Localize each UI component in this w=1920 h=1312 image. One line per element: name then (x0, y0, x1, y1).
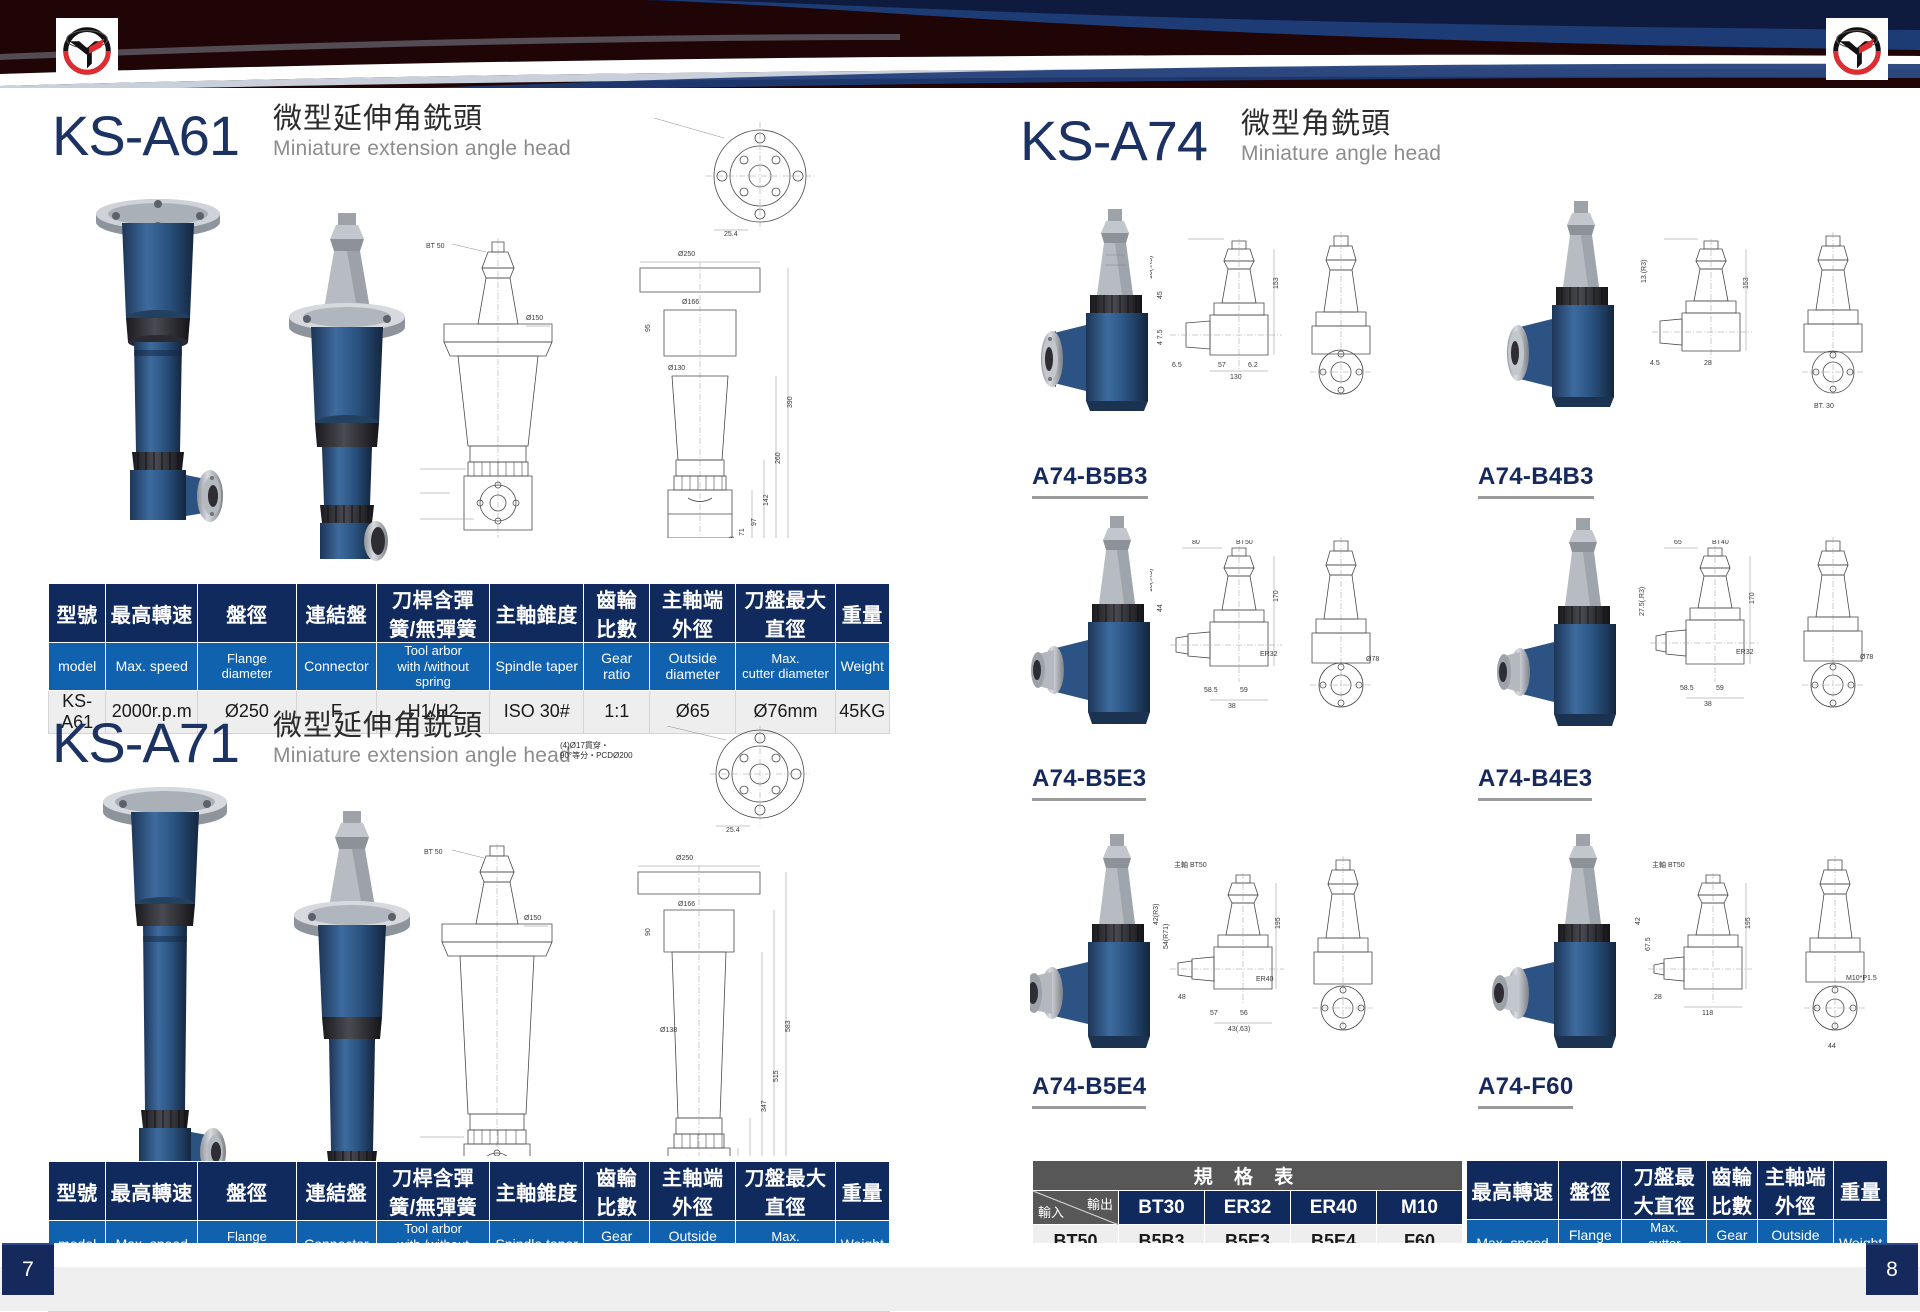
svg-text:95: 95 (645, 324, 652, 332)
svg-text:153: 153 (1743, 277, 1750, 289)
model-label-a74-b5e4: A74-B5E4 (1032, 1073, 1146, 1109)
col-flange-cn: 盤徑 (198, 584, 296, 643)
col-outside-en: Outside diameter (650, 643, 736, 691)
grid-header-row: 輸出 輸入 BT30 ER32 ER40 M10 (1033, 1191, 1463, 1225)
svg-text:25.4: 25.4 (726, 827, 740, 834)
svg-text:58.5: 58.5 (1204, 687, 1218, 694)
col-weight-en: Weight (835, 643, 890, 691)
col-arbor-cn: 刀桿含彈簧/無彈簧 (377, 584, 490, 643)
col-arbor-cn: 刀桿含彈簧/無彈簧 (377, 1162, 490, 1221)
technical-drawing-a74-f60-end: M10*P1.5 44 (1784, 852, 1909, 1072)
svg-text:Ø150: Ø150 (526, 315, 543, 322)
svg-text:Ø78: Ø78 (1860, 654, 1873, 661)
technical-drawing-a74-b5b3-end (1290, 230, 1410, 430)
page-number-right: 8 (1866, 1243, 1918, 1295)
svg-text:Ø250: Ø250 (678, 251, 695, 258)
product-code: KS-A74 (1020, 113, 1207, 169)
product-code: KS-A61 (52, 108, 239, 164)
technical-drawing-ks-a61: (4)Ø17貫穿‧ 90°等分‧PCDØ200 25.4 BT 50 Ø150 (420, 118, 920, 538)
model-label-a74-b4b3: A74-B4B3 (1478, 463, 1594, 499)
grid-title-row: 規 格 表 (1033, 1161, 1463, 1191)
col-gear-cn: 齒輪比數 (584, 584, 650, 643)
col-model-cn: 型號 (49, 584, 106, 643)
svg-text:515: 515 (773, 1070, 780, 1082)
svg-text:71: 71 (739, 528, 746, 536)
footer-bar: 7 8 (0, 1243, 1920, 1311)
technical-drawing-a74-b4e3: 65 BT40 16.5(.R3) 27.5(.R3) 170 58.5 59 … (1638, 540, 1798, 750)
svg-text:4.5: 4.5 (1650, 360, 1660, 367)
table-header-row-cn: 最高轉速 盤徑 刀盤最大直徑 齒輪比數 主軸端外徑 重量 (1467, 1161, 1888, 1220)
col-gear-en: Gear ratio (584, 643, 650, 691)
technical-drawing-ks-a71: (4)Ø17貫穿‧ 90°等分‧PCDØ200 25.4 BT 50 Ø150 … (420, 726, 920, 1156)
col-connector-cn: 連結盤 (296, 584, 377, 643)
svg-text:44: 44 (1157, 604, 1164, 612)
svg-text:Ø150: Ø150 (524, 915, 541, 922)
col-flange-cn: 盤徑 (1559, 1161, 1622, 1220)
table-header-row-cn: 型號 最高轉速 盤徑 連結盤 刀桿含彈簧/無彈簧 主軸錐度 齒輪比數 主軸端外徑… (49, 1162, 890, 1221)
svg-text:48: 48 (1178, 994, 1186, 1001)
company-logo-mark (1826, 18, 1888, 80)
svg-text:48: 48 (729, 536, 736, 538)
svg-text:57: 57 (1218, 362, 1226, 369)
col-model-en: model (49, 643, 106, 691)
col-outside-cn: 主軸端外徑 (650, 1162, 736, 1221)
product-name-cn: 微型角銑頭 (1241, 108, 1441, 141)
svg-text:56: 56 (1240, 1010, 1248, 1017)
grid-corner-input: 輸入 (1038, 1202, 1064, 1221)
technical-drawing-a74-b4b3-end: BT. 30 (1782, 230, 1902, 430)
col-speed-cn: 最高轉速 (106, 584, 198, 643)
model-label-a74-b4e3: A74-B4E3 (1478, 765, 1592, 801)
svg-text:118: 118 (1702, 1010, 1713, 1017)
svg-text:59: 59 (1240, 687, 1248, 694)
banner-swoosh-graphic (0, 0, 1920, 88)
svg-text:Ø166: Ø166 (678, 901, 695, 908)
grid-col-er32: ER32 (1205, 1191, 1291, 1225)
grid-corner-output: 輸出 (1087, 1194, 1113, 1213)
svg-text:58.5: 58.5 (1680, 685, 1694, 692)
svg-text:BT50: BT50 (1236, 540, 1253, 546)
logo-left (56, 18, 118, 80)
svg-text:38: 38 (1228, 703, 1236, 710)
col-speed-cn: 最高轉速 (106, 1162, 198, 1221)
col-weight-cn: 重量 (1834, 1161, 1888, 1220)
svg-text:BT 50: BT 50 (426, 243, 445, 250)
grid-col-m10: M10 (1377, 1191, 1463, 1225)
top-banner (0, 0, 1920, 88)
svg-text:M10*P1.5: M10*P1.5 (1846, 975, 1877, 982)
col-model-cn: 型號 (49, 1162, 106, 1221)
svg-text:ER40: ER40 (1256, 976, 1274, 983)
technical-drawing-a74-f60: 主軸 BT50 42 67.5 195 28 118 (1630, 855, 1800, 1075)
svg-text:260: 260 (775, 452, 782, 464)
svg-text:44: 44 (1828, 1043, 1836, 1050)
svg-text:43(.63): 43(.63) (1228, 1026, 1250, 1033)
col-arbor-en: Tool arbor with /without spring (377, 643, 490, 691)
svg-text:13.(R3): 13.(R3) (1641, 260, 1648, 283)
col-cutter-cn: 刀盤最大直徑 (1622, 1161, 1707, 1220)
page-number-left: 7 (2, 1243, 54, 1295)
technical-drawing-a74-b4e3-end: Ø78 (1782, 535, 1907, 745)
svg-text:90°等分‧PCDØ200: 90°等分‧PCDØ200 (560, 750, 633, 760)
svg-text:130: 130 (1230, 374, 1242, 381)
svg-text:ER32: ER32 (1260, 651, 1278, 658)
col-flange-cn: 盤徑 (198, 1162, 296, 1221)
col-cutter-cn: 刀盤最大直徑 (736, 584, 835, 643)
svg-text:583: 583 (785, 1020, 792, 1032)
svg-text:390: 390 (787, 396, 794, 408)
col-gear-cn: 齒輪比數 (1707, 1161, 1757, 1220)
svg-text:54(R71): 54(R71) (1163, 924, 1170, 949)
col-taper-cn: 主軸錐度 (490, 584, 584, 643)
technical-drawing-a74-b4b3: 37. 40 13.(R3) 153 4.5 28 (1638, 235, 1788, 435)
col-outside-cn: 主軸端外徑 (1757, 1161, 1834, 1220)
grid-col-bt30: BT30 (1119, 1191, 1205, 1225)
svg-text:6.2: 6.2 (1248, 362, 1258, 369)
svg-text:主軸 BT50: 主軸 BT50 (1652, 860, 1685, 869)
product-name-block: 微型角銑頭 Miniature angle head (1241, 108, 1441, 169)
svg-text:28: 28 (1704, 360, 1712, 367)
svg-text:80: 80 (1192, 540, 1200, 546)
footer-grey-band (0, 1267, 1920, 1311)
col-speed-cn: 最高轉速 (1467, 1161, 1559, 1220)
col-taper-en: Spindle taper (490, 643, 584, 691)
svg-text:16(.R3): 16(.R3) (1150, 569, 1154, 592)
svg-text:6.5: 6.5 (1172, 362, 1182, 369)
svg-text:主軸 BT50: 主軸 BT50 (1174, 860, 1207, 869)
table-header-row-cn: 型號 最高轉速 盤徑 連結盤 刀桿含彈簧/無彈簧 主軸錐度 齒輪比數 主軸端外徑… (49, 584, 890, 643)
col-weight-cn: 重量 (835, 584, 890, 643)
svg-text:97: 97 (751, 518, 758, 526)
svg-text:67.5: 67.5 (1645, 937, 1652, 951)
svg-text:42: 42 (1635, 917, 1642, 925)
col-flange-en: Flange diameter (198, 643, 296, 691)
model-label-a74-f60: A74-F60 (1478, 1073, 1573, 1109)
logo-right (1826, 18, 1888, 80)
svg-text:(4)Ø17貫穿‧: (4)Ø17貫穿‧ (560, 740, 609, 750)
col-gear-cn: 齒輪比數 (584, 1162, 650, 1221)
svg-text:142: 142 (763, 494, 770, 506)
technical-drawing-a74-b5e3-end: Ø78 (1290, 535, 1410, 745)
svg-text:BT40: BT40 (1712, 540, 1729, 546)
grid-corner-cell: 輸出 輸入 (1033, 1191, 1119, 1225)
svg-text:90: 90 (645, 928, 652, 936)
svg-text:25.4: 25.4 (724, 231, 738, 238)
product-title-ks-a74: KS-A74 微型角銑頭 Miniature angle head (1020, 108, 1441, 169)
svg-text:Ø166: Ø166 (682, 299, 699, 306)
table-header-row-en: model Max. speed Flange diameter Connect… (49, 643, 890, 691)
product-name-en: Miniature angle head (1241, 141, 1441, 166)
model-label-a74-b5b3: A74-B5B3 (1032, 463, 1148, 499)
col-connector-cn: 連結盤 (296, 1162, 377, 1221)
svg-text:59: 59 (1716, 685, 1724, 692)
svg-text:38: 38 (1704, 701, 1712, 708)
model-label-a74-b5e3: A74-B5E3 (1032, 765, 1146, 801)
svg-text:Ø130: Ø130 (668, 365, 685, 372)
col-connector-en: Connector (296, 643, 377, 691)
grid-col-er40: ER40 (1291, 1191, 1377, 1225)
svg-text:Ø250: Ø250 (676, 855, 693, 862)
svg-text:BT. 30: BT. 30 (1814, 403, 1834, 410)
col-cutter-cn: 刀盤最大直徑 (736, 1162, 835, 1221)
company-logo-mark (56, 18, 118, 80)
col-outside-cn: 主軸端外徑 (650, 584, 736, 643)
svg-text:16(.R3): 16(.R3) (1150, 256, 1154, 279)
svg-text:Ø78: Ø78 (1366, 656, 1379, 663)
svg-text:4 7.5: 4 7.5 (1157, 329, 1164, 345)
svg-text:347: 347 (761, 1100, 768, 1112)
grid-title: 規 格 表 (1033, 1161, 1463, 1191)
col-taper-cn: 主軸錐度 (490, 1162, 584, 1221)
col-speed-en: Max. speed (106, 643, 198, 691)
svg-text:BT 50: BT 50 (424, 849, 443, 856)
svg-text:65: 65 (1674, 540, 1682, 546)
technical-drawing-a74-b5e4-end (1292, 852, 1412, 1072)
svg-text:45: 45 (1157, 291, 1164, 299)
svg-text:42(R3): 42(R3) (1153, 904, 1160, 925)
svg-text:57: 57 (1210, 1010, 1218, 1017)
col-cutter-en: Max. cutter diameter (736, 643, 835, 691)
svg-text:27.5(.R3): 27.5(.R3) (1639, 587, 1646, 616)
product-code: KS-A71 (52, 715, 239, 771)
svg-text:28: 28 (1654, 994, 1662, 1001)
col-weight-cn: 重量 (835, 1162, 890, 1221)
svg-text:ER32: ER32 (1736, 649, 1754, 656)
